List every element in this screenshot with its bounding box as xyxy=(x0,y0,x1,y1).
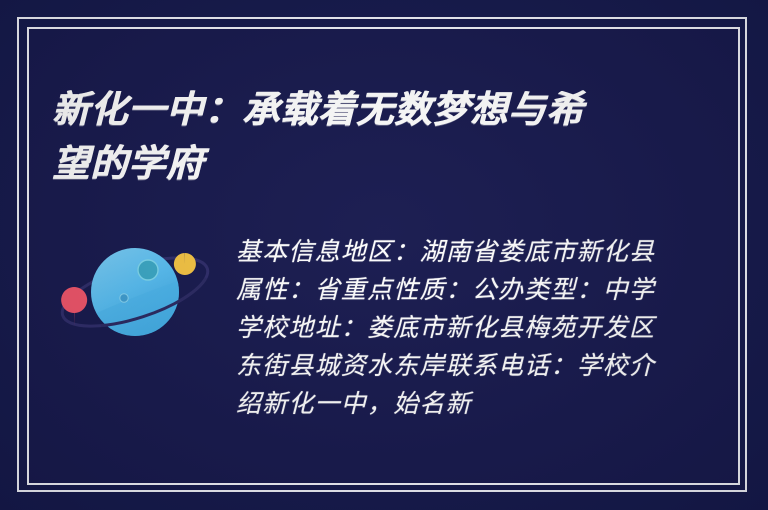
article-body: 基本信息地区：湖南省娄底市新化县属性：省重点性质：公办类型：中学学校地址：娄底市… xyxy=(236,233,672,423)
page-title-line-1: 新化一中：承载着无数梦想与希 xyxy=(52,88,584,131)
page-title: 新化一中：承载着无数梦想与希 望的学府 xyxy=(52,83,692,191)
poster-canvas: 新化一中：承载着无数梦想与希 望的学府 xyxy=(0,0,768,510)
planet-crater-large xyxy=(138,260,158,280)
page-title-line-2: 望的学府 xyxy=(52,137,692,191)
moon-yellow-icon xyxy=(174,253,196,275)
planet-icon xyxy=(48,230,223,350)
planet-illustration xyxy=(48,230,223,350)
